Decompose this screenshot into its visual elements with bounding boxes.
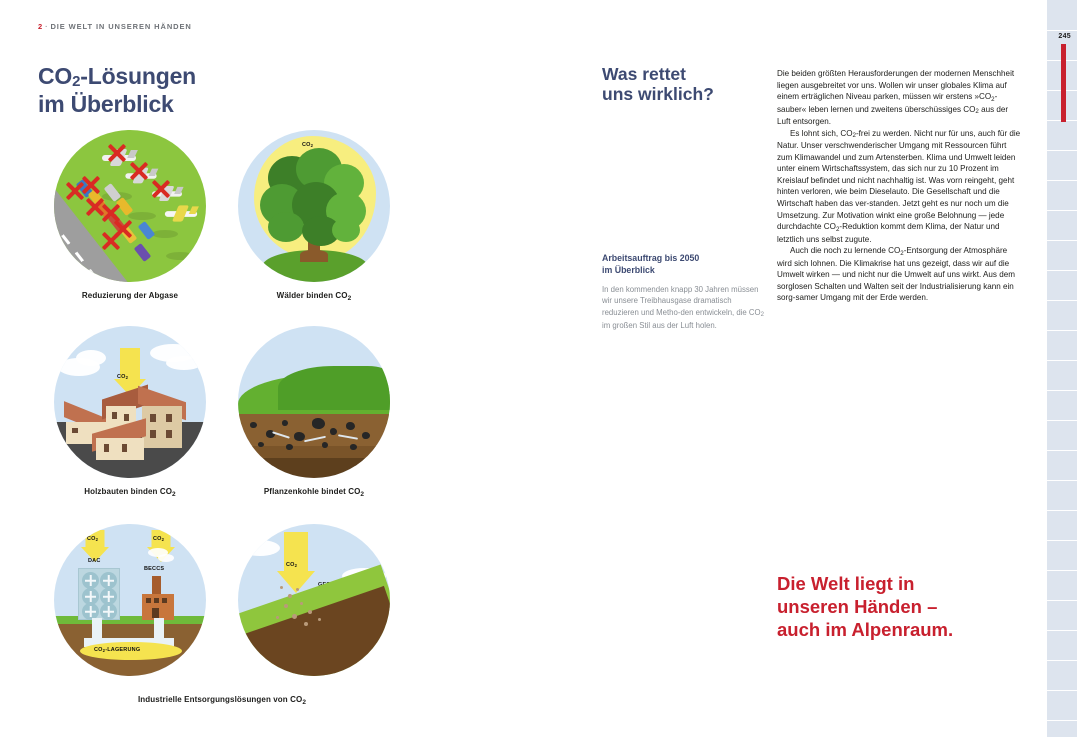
edge-marker-number: 245 [1058, 33, 1071, 40]
figure-caption-subscript: 2 [172, 491, 176, 498]
dust-particle [288, 594, 292, 598]
figure-rockdust-circle: CO2 GESTEINSMEHL [238, 524, 390, 676]
co2-label-subscript: 2 [126, 375, 129, 380]
figure-caption-subscript: 2 [360, 491, 364, 498]
house-window [166, 414, 172, 422]
cross-out-icon [128, 160, 150, 182]
illustration-timber-houses: CO2 [54, 326, 206, 478]
figure-exhaust-circle [54, 130, 206, 282]
house-window [112, 412, 117, 419]
beccs-label: BECCS [144, 566, 164, 572]
figure-caption: Pflanzenkohle bindet CO2 [222, 487, 406, 496]
document-page: 2·DIE WELT IN UNSEREN HÄNDEN 245 CO2-Lös… [0, 0, 1077, 737]
closing-statement: Die Welt liegt in unseren Händen – auch … [777, 572, 1027, 641]
storage-label-text: CO [94, 647, 103, 653]
dust-particle [300, 602, 303, 605]
cloud-shape [240, 540, 280, 556]
cloud-shape [166, 356, 202, 370]
cross-out-icon [100, 230, 122, 252]
paragraph-part1: Die beiden größten Herausforderungen der… [777, 69, 1014, 101]
factory-window [154, 598, 159, 603]
paragraph-part1: Auch die noch zu lernende CO [790, 246, 900, 255]
co2-label-subscript: 2 [96, 537, 99, 542]
fan-icon [100, 603, 117, 620]
co2-label: CO2 [87, 536, 98, 542]
section-heading-line1: Was rettet [602, 64, 686, 84]
dust-particle [276, 616, 279, 619]
figure-caption: Holzbauten binden CO2 [38, 487, 222, 496]
body-text-column: Die beiden größten Herausforderungen der… [777, 68, 1023, 304]
factory-window [146, 598, 151, 603]
paragraph-sub1: 2 [900, 250, 903, 257]
figure-caption: Wälder binden CO2 [222, 291, 406, 300]
cross-out-icon [106, 142, 128, 164]
plane-shadow [152, 230, 178, 238]
co2-label-subscript: 2 [295, 563, 298, 568]
cross-out-icon [150, 178, 172, 200]
figure-caption-wide: Industrielle Entsorgungslösungen von CO2 [38, 695, 406, 704]
illustration-tree: CO2 [238, 130, 390, 282]
figure-forests-bind-co2: CO2 Wälder binden CO2 [222, 130, 406, 300]
body-paragraph: Die beiden größten Herausforderungen der… [777, 68, 1023, 128]
biochar-particle [322, 442, 328, 448]
page-title-co2: CO [38, 63, 72, 89]
figure-timber-buildings: CO2 [38, 326, 222, 496]
closing-line2: unseren Händen – [777, 596, 937, 617]
section-heading: Was rettet uns wirklich? [602, 64, 767, 104]
tree-root-flare [300, 250, 328, 262]
biochar-particle [362, 432, 370, 439]
figure-forest-circle: CO2 [238, 130, 390, 282]
callout-body-subscript: 2 [761, 312, 764, 318]
dust-particle [318, 618, 321, 621]
callout-body-part2: im großen Stil aus der Luft holen. [602, 321, 717, 330]
cross-out-icon [80, 174, 102, 196]
dust-particle [292, 614, 297, 619]
callout-body: In den kommenden knapp 30 Jahren müssen … [602, 284, 770, 332]
figure-caption-text: Reduzierung der Abgase [82, 291, 178, 300]
biochar-particle [330, 428, 337, 435]
house-window [72, 428, 78, 433]
dust-particle [296, 588, 299, 591]
page-title-line2: im Überblick [38, 91, 174, 117]
running-head: 2·DIE WELT IN UNSEREN HÄNDEN [38, 22, 192, 31]
figure-caption-text: Pflanzenkohle bindet CO [264, 487, 361, 496]
biochar-particle [350, 444, 357, 450]
callout-box: Arbeitsauftrag bis 2050 im Überblick In … [602, 253, 770, 332]
dust-particle [308, 610, 312, 614]
illustration-road-traffic [54, 130, 206, 282]
factory-window [162, 598, 167, 603]
callout-title: Arbeitsauftrag bis 2050 im Überblick [602, 253, 770, 276]
airplane-icon [165, 208, 197, 218]
illustration-rock-dust: CO2 GESTEINSMEHL [238, 524, 390, 676]
paragraph-sub2: 2 [836, 226, 839, 233]
storage-label-subscript: 2 [103, 648, 106, 653]
house-window [104, 444, 109, 452]
callout-title-line1: Arbeitsauftrag bis 2050 [602, 253, 699, 263]
biochar-particle [258, 442, 264, 447]
figure-biochar-circle [238, 326, 390, 478]
co2-label-subscript: 2 [311, 143, 314, 148]
co2-label: CO2 [117, 374, 128, 380]
house-wall [142, 406, 182, 448]
field-rows [278, 366, 390, 410]
paragraph-part1: Es lohnt sich, CO [790, 129, 853, 138]
paragraph-sub1: 2 [853, 132, 856, 139]
co2-storage-label: CO2-LAGERUNG [94, 647, 140, 653]
house-window [124, 414, 129, 421]
figure-caption-wide-text: Industrielle Entsorgungslösungen von CO [138, 695, 302, 704]
dust-particle [280, 586, 283, 589]
figure-caption: Reduzierung der Abgase [38, 291, 222, 300]
page-title: CO2-Lösungen im Überblick [38, 64, 196, 117]
dust-particle [304, 622, 308, 626]
house-window [122, 444, 127, 452]
figure-houses-circle: CO2 [54, 326, 206, 478]
biochar-particle [250, 422, 257, 428]
vehicle-icon [134, 243, 152, 262]
soil-layer-deep [238, 458, 390, 478]
paragraph-sub2: 2 [975, 108, 978, 115]
paragraph-sub1: 2 [991, 96, 994, 103]
plane-shadow [166, 252, 194, 260]
co2-label-text: CO [302, 142, 311, 148]
body-paragraph: Es lohnt sich, CO2-frei zu werden. Nicht… [777, 128, 1023, 245]
page-title-rest: -Lösungen [80, 63, 196, 89]
illustration-dac-beccs: CO2 CO2 DAC BECCS [54, 524, 206, 676]
tree-foliage [268, 212, 304, 242]
smoke-puff [158, 554, 174, 562]
biochar-particle [312, 418, 325, 429]
section-heading-line2: uns wirklich? [602, 84, 714, 104]
cloud-shape [76, 350, 106, 366]
page-title-co2-subscript: 2 [72, 73, 80, 90]
figure-caption-subscript: 2 [348, 295, 352, 302]
edge-marker-bar [1061, 44, 1066, 122]
body-paragraph: Auch die noch zu lernende CO2-Entsorgung… [777, 245, 1023, 304]
callout-body-part1: In den kommenden knapp 30 Jahren müssen … [602, 285, 761, 317]
dust-particle [284, 604, 288, 608]
figure-caption-text: Holzbauten binden CO [84, 487, 172, 496]
running-head-title: DIE WELT IN UNSEREN HÄNDEN [50, 22, 191, 31]
callout-title-line2: im Überblick [602, 265, 655, 275]
figure-caption-text: Wälder binden CO [277, 291, 348, 300]
biochar-particle [286, 444, 293, 450]
figure-exhaust-reduction: Reduzierung der Abgase [38, 130, 222, 300]
co2-label: CO2 [153, 536, 164, 542]
vehicle-icon [138, 221, 156, 240]
co2-label-subscript: 2 [162, 537, 165, 542]
biochar-particle [282, 420, 288, 426]
co2-label: CO2 [302, 142, 313, 148]
co2-label: CO2 [286, 562, 297, 568]
co2-label-text: CO [87, 536, 96, 542]
house-window [150, 430, 156, 438]
house-window [166, 430, 172, 438]
co2-label-text: CO [117, 374, 126, 380]
factory-door [152, 608, 159, 618]
fan-icon [100, 572, 117, 589]
figure-caption-wide-subscript: 2 [302, 699, 306, 706]
figure-dac-circle: CO2 CO2 DAC BECCS [54, 524, 206, 676]
dac-label: DAC [88, 558, 101, 564]
paragraph-part2: -frei zu werden. Nicht nur für uns, auch… [777, 129, 1020, 231]
storage-label-tail: -LAGERUNG [105, 647, 140, 653]
biochar-particle [346, 422, 355, 430]
house-window [150, 414, 156, 422]
fan-icon [82, 572, 99, 589]
co2-label-text: CO [286, 562, 295, 568]
closing-line3: auch im Alpenraum. [777, 619, 953, 640]
tree-foliage [332, 218, 360, 242]
edge-marker-strip: 245 [1047, 0, 1077, 737]
figure-industrial-dac-beccs: CO2 CO2 DAC BECCS [38, 524, 222, 676]
illustration-biochar-soil [238, 326, 390, 478]
figure-rock-dust: CO2 GESTEINSMEHL [222, 524, 406, 676]
figure-biochar: Pflanzenkohle bindet CO2 [222, 326, 406, 496]
closing-line1: Die Welt liegt in [777, 573, 914, 594]
co2-label-text: CO [153, 536, 162, 542]
